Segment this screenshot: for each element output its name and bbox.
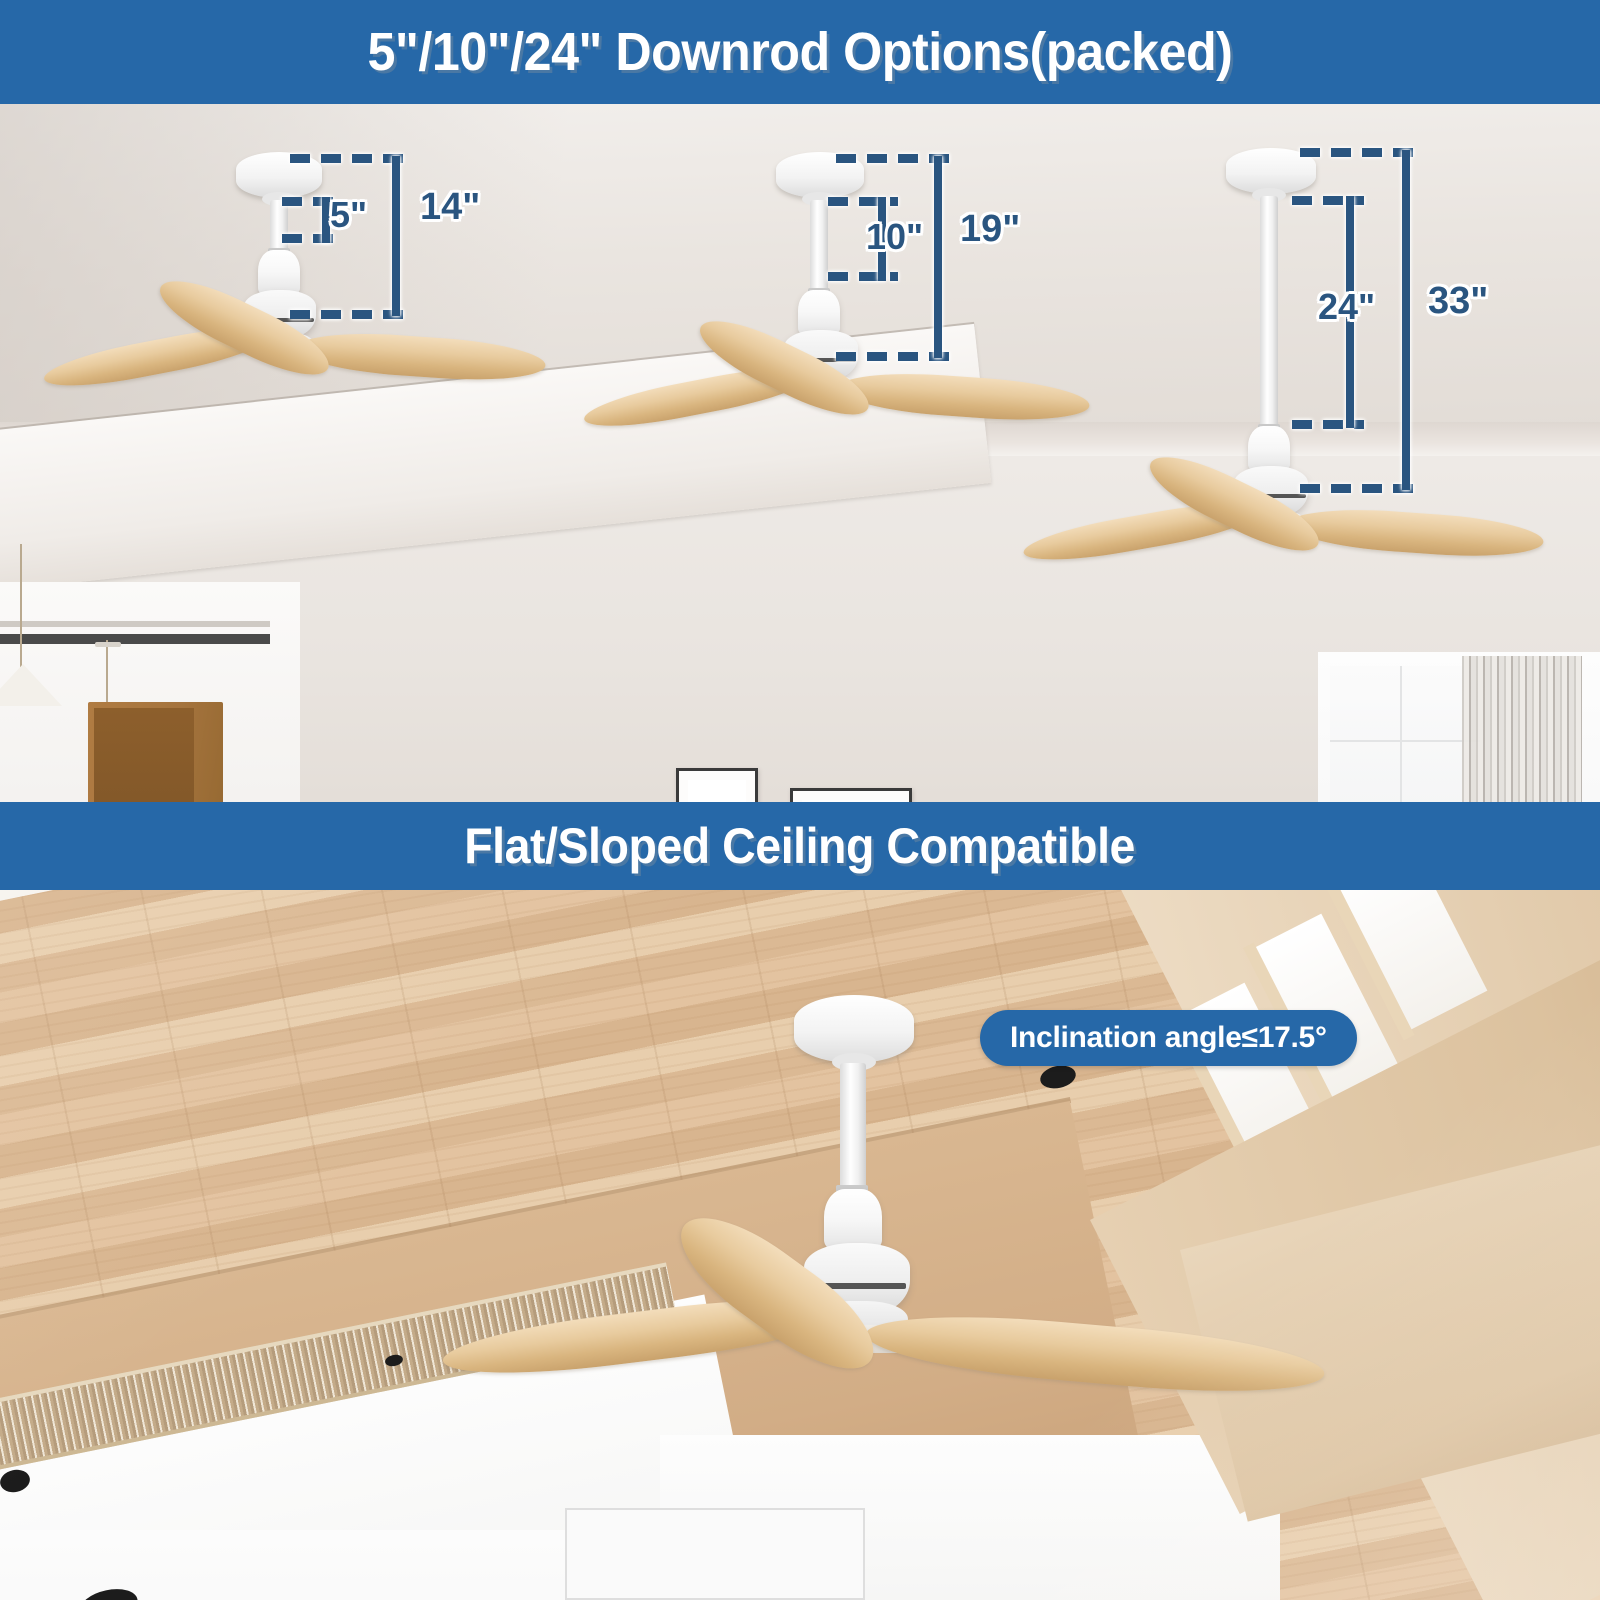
- ceiling-fan-24in: [1190, 142, 1600, 562]
- ceiling-fan-10in: [740, 142, 1220, 462]
- kitchen-rail-dark: [0, 634, 270, 644]
- dim-total-line-fan3: [1402, 150, 1410, 490]
- dim-rod-label-fan2: 10": [866, 216, 923, 258]
- dim-total-label-fan1: 14": [420, 186, 480, 229]
- window-curtain: [1462, 656, 1582, 802]
- fan-downrod: [270, 200, 288, 252]
- fan-downrod: [810, 200, 828, 292]
- cabinet-interior: [94, 708, 194, 802]
- wall-frame-2: [676, 768, 758, 802]
- fan-downrod: [1260, 196, 1278, 428]
- header-banner-downrod-text: 5"/10"/24" Downrod Options(packed): [368, 21, 1233, 83]
- wall-frame-3: [790, 788, 912, 802]
- dim-total-line-fan1: [392, 156, 400, 316]
- dim-rod-line-fan1: [322, 197, 330, 243]
- fan-blade-right: [1287, 504, 1545, 562]
- dim-rod-bottom-fan2: [828, 272, 898, 281]
- inclination-angle-badge: Inclination angle≤17.5°: [980, 1010, 1357, 1066]
- ceiling-fan-5in: [200, 142, 680, 422]
- dim-total-label-fan3: 33": [1428, 280, 1488, 323]
- inclination-angle-badge-text: Inclination angle≤17.5°: [1010, 1021, 1327, 1055]
- dim-total-line-fan2: [934, 156, 942, 358]
- dim-total-label-fan2: 19": [960, 208, 1020, 251]
- pendant-canopy-2: [95, 642, 121, 647]
- fan-blade-right: [837, 368, 1091, 425]
- window-glass: [1330, 666, 1480, 802]
- bottom-room-photo: [0, 890, 1600, 1600]
- dim-rod-label-fan1: 5": [330, 194, 367, 236]
- frame-artwork: [695, 787, 739, 802]
- dim-rod-label-fan3: 24": [1318, 286, 1375, 328]
- header-banner-ceiling-text: Flat/Sloped Ceiling Compatible: [465, 817, 1136, 875]
- top-room-photo: 14" 5" 19" 10": [0, 104, 1600, 802]
- fan-blade-right: [295, 328, 547, 385]
- scene-light-veil: [0, 890, 1600, 1600]
- pendant-cord-1: [20, 544, 22, 674]
- window-mullion-h: [1330, 740, 1480, 742]
- header-banner-ceiling: Flat/Sloped Ceiling Compatible: [0, 802, 1600, 890]
- product-infographic: 5"/10"/24" Downrod Options(packed): [0, 0, 1600, 1600]
- header-banner-downrod: 5"/10"/24" Downrod Options(packed): [0, 0, 1600, 104]
- window-mullion-v: [1400, 666, 1402, 802]
- dim-rod-top-fan2: [828, 197, 898, 206]
- kitchen-rail-light: [0, 621, 270, 627]
